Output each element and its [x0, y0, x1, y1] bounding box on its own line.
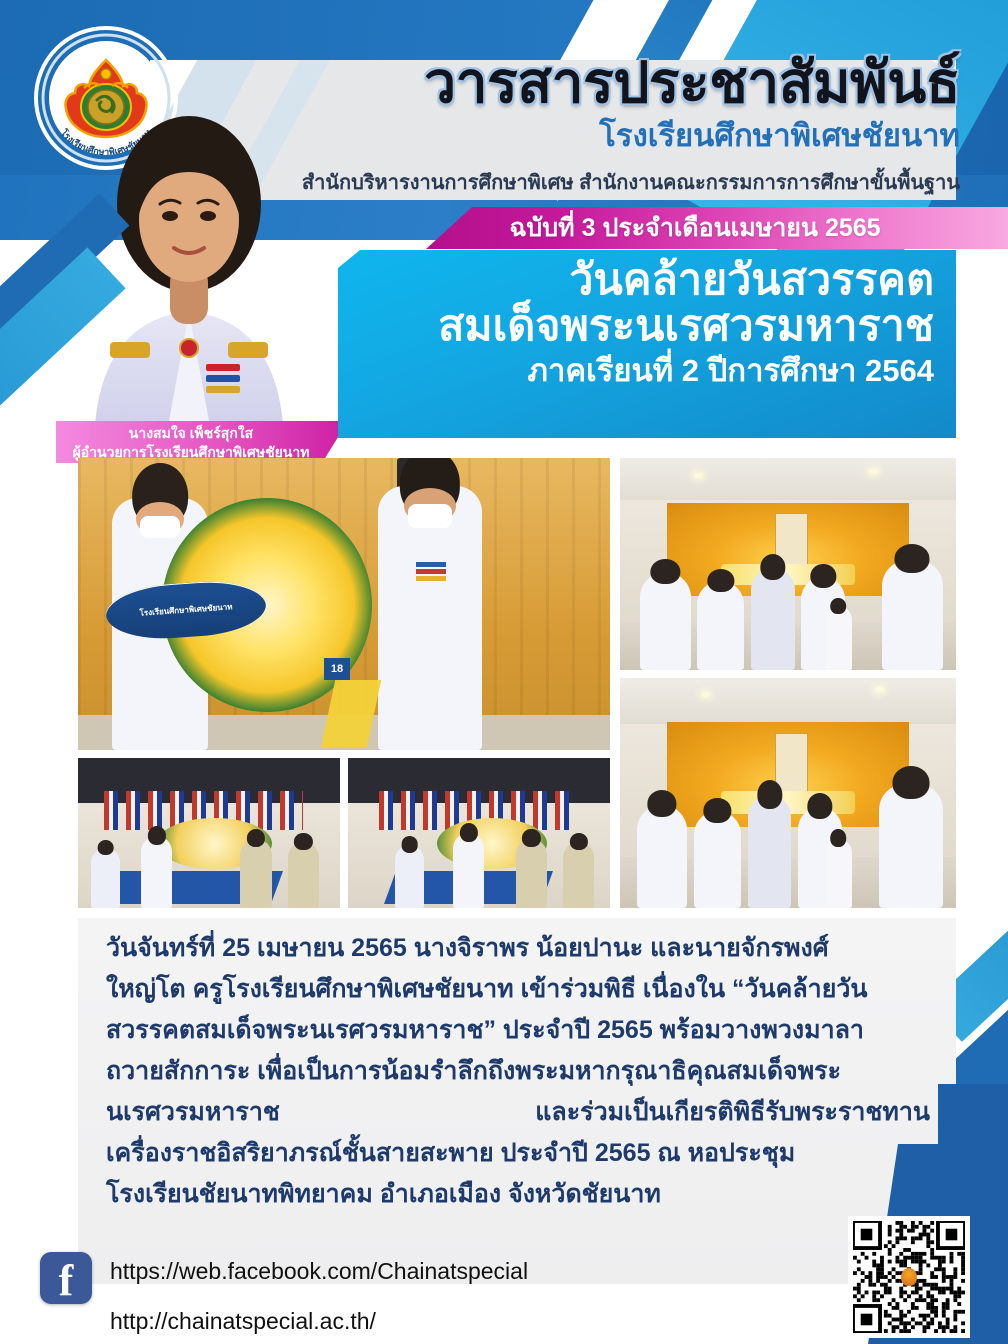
event-banner: วันคล้ายวันสวรรคต สมเด็จพระนเรศวรมหาราช … [338, 250, 956, 438]
facebook-icon[interactable]: f [40, 1252, 92, 1304]
school-name: โรงเรียนศึกษาพิเศษชัยนาท [360, 120, 960, 153]
department-line: สำนักบริหารงานการศึกษาพิเศษ สำนักงานคณะก… [190, 166, 960, 198]
article-line: สวรรคตสมเด็จพระนเรศวรมหาราช” ประจำปี 256… [106, 1018, 930, 1043]
photo-bottom-right[interactable] [348, 758, 610, 908]
website-url[interactable]: http://chainatspecial.ac.th/ [110, 1308, 376, 1335]
article-line: โรงเรียนชัยนาทพิทยาคม อำเภอเมือง จังหวัด… [106, 1182, 930, 1207]
wreath-ribbon-text: โรงเรียนศึกษาพิเศษชัยนาท [106, 598, 267, 622]
wreath-number: 18 [324, 658, 350, 680]
director-portrait [86, 96, 292, 448]
event-title-line-2: สมเด็จพระนเรศวรมหาราช [360, 302, 934, 350]
article-line: เครื่องราชอิสริยาภรณ์ชั้นสายสะพาย ประจำป… [106, 1141, 930, 1166]
newsletter-poster: วารสารประชาสัมพันธ์ โรงเรียนศึกษาพิเศษชั… [0, 0, 1008, 1344]
issue-text: ฉบับที่ 3 ประจำเดือนเมษายน 2565 [509, 208, 924, 248]
page-title: วารสารประชาสัมพันธ์ [360, 55, 960, 112]
photo-bottom-left[interactable] [78, 758, 340, 908]
photo-grid: โรงเรียนศึกษาพิเศษชัยนาท 18 [78, 458, 956, 908]
facebook-url[interactable]: https://web.facebook.com/Chainatspecial [110, 1258, 528, 1285]
article-line: วันจันทร์ที่ 25 เมษายน 2565 นางจิราพร น้… [106, 936, 930, 961]
article-line: ใหญ่โต ครูโรงเรียนศึกษาพิเศษชัยนาท เข้าร… [106, 977, 930, 1002]
director-name: นางสมใจ เพ็ชร์สุกใส [56, 424, 326, 443]
event-term-line: ภาคเรียนที่ 2 ปีการศึกษา 2564 [360, 352, 934, 389]
event-title-line-1: วันคล้ายวันสวรรคต [360, 256, 934, 304]
article-text-panel: วันจันทร์ที่ 25 เมษายน 2565 นางจิราพร น้… [78, 918, 956, 1284]
article-line: ถวายสักการะ เพื่อเป็นการน้อมรำลึกถึงพระม… [106, 1059, 930, 1084]
qr-code[interactable] [848, 1216, 970, 1338]
director-caption: นางสมใจ เพ็ชร์สุกใส ผู้อำนวยการโรงเรียนศ… [56, 421, 348, 463]
issue-ribbon: ฉบับที่ 3 ประจำเดือนเมษายน 2565 [426, 207, 1008, 249]
photo-right-top[interactable] [620, 458, 956, 670]
photo-main[interactable]: โรงเรียนศึกษาพิเศษชัยนาท 18 [78, 458, 610, 750]
photo-right-bottom[interactable] [620, 678, 956, 908]
facebook-glyph: f [59, 1259, 74, 1303]
qr-center-logo [901, 1268, 917, 1286]
article-line: นเรศวรมหาราช และร่วมเป็นเกียรติพิธีรับพร… [106, 1100, 930, 1125]
